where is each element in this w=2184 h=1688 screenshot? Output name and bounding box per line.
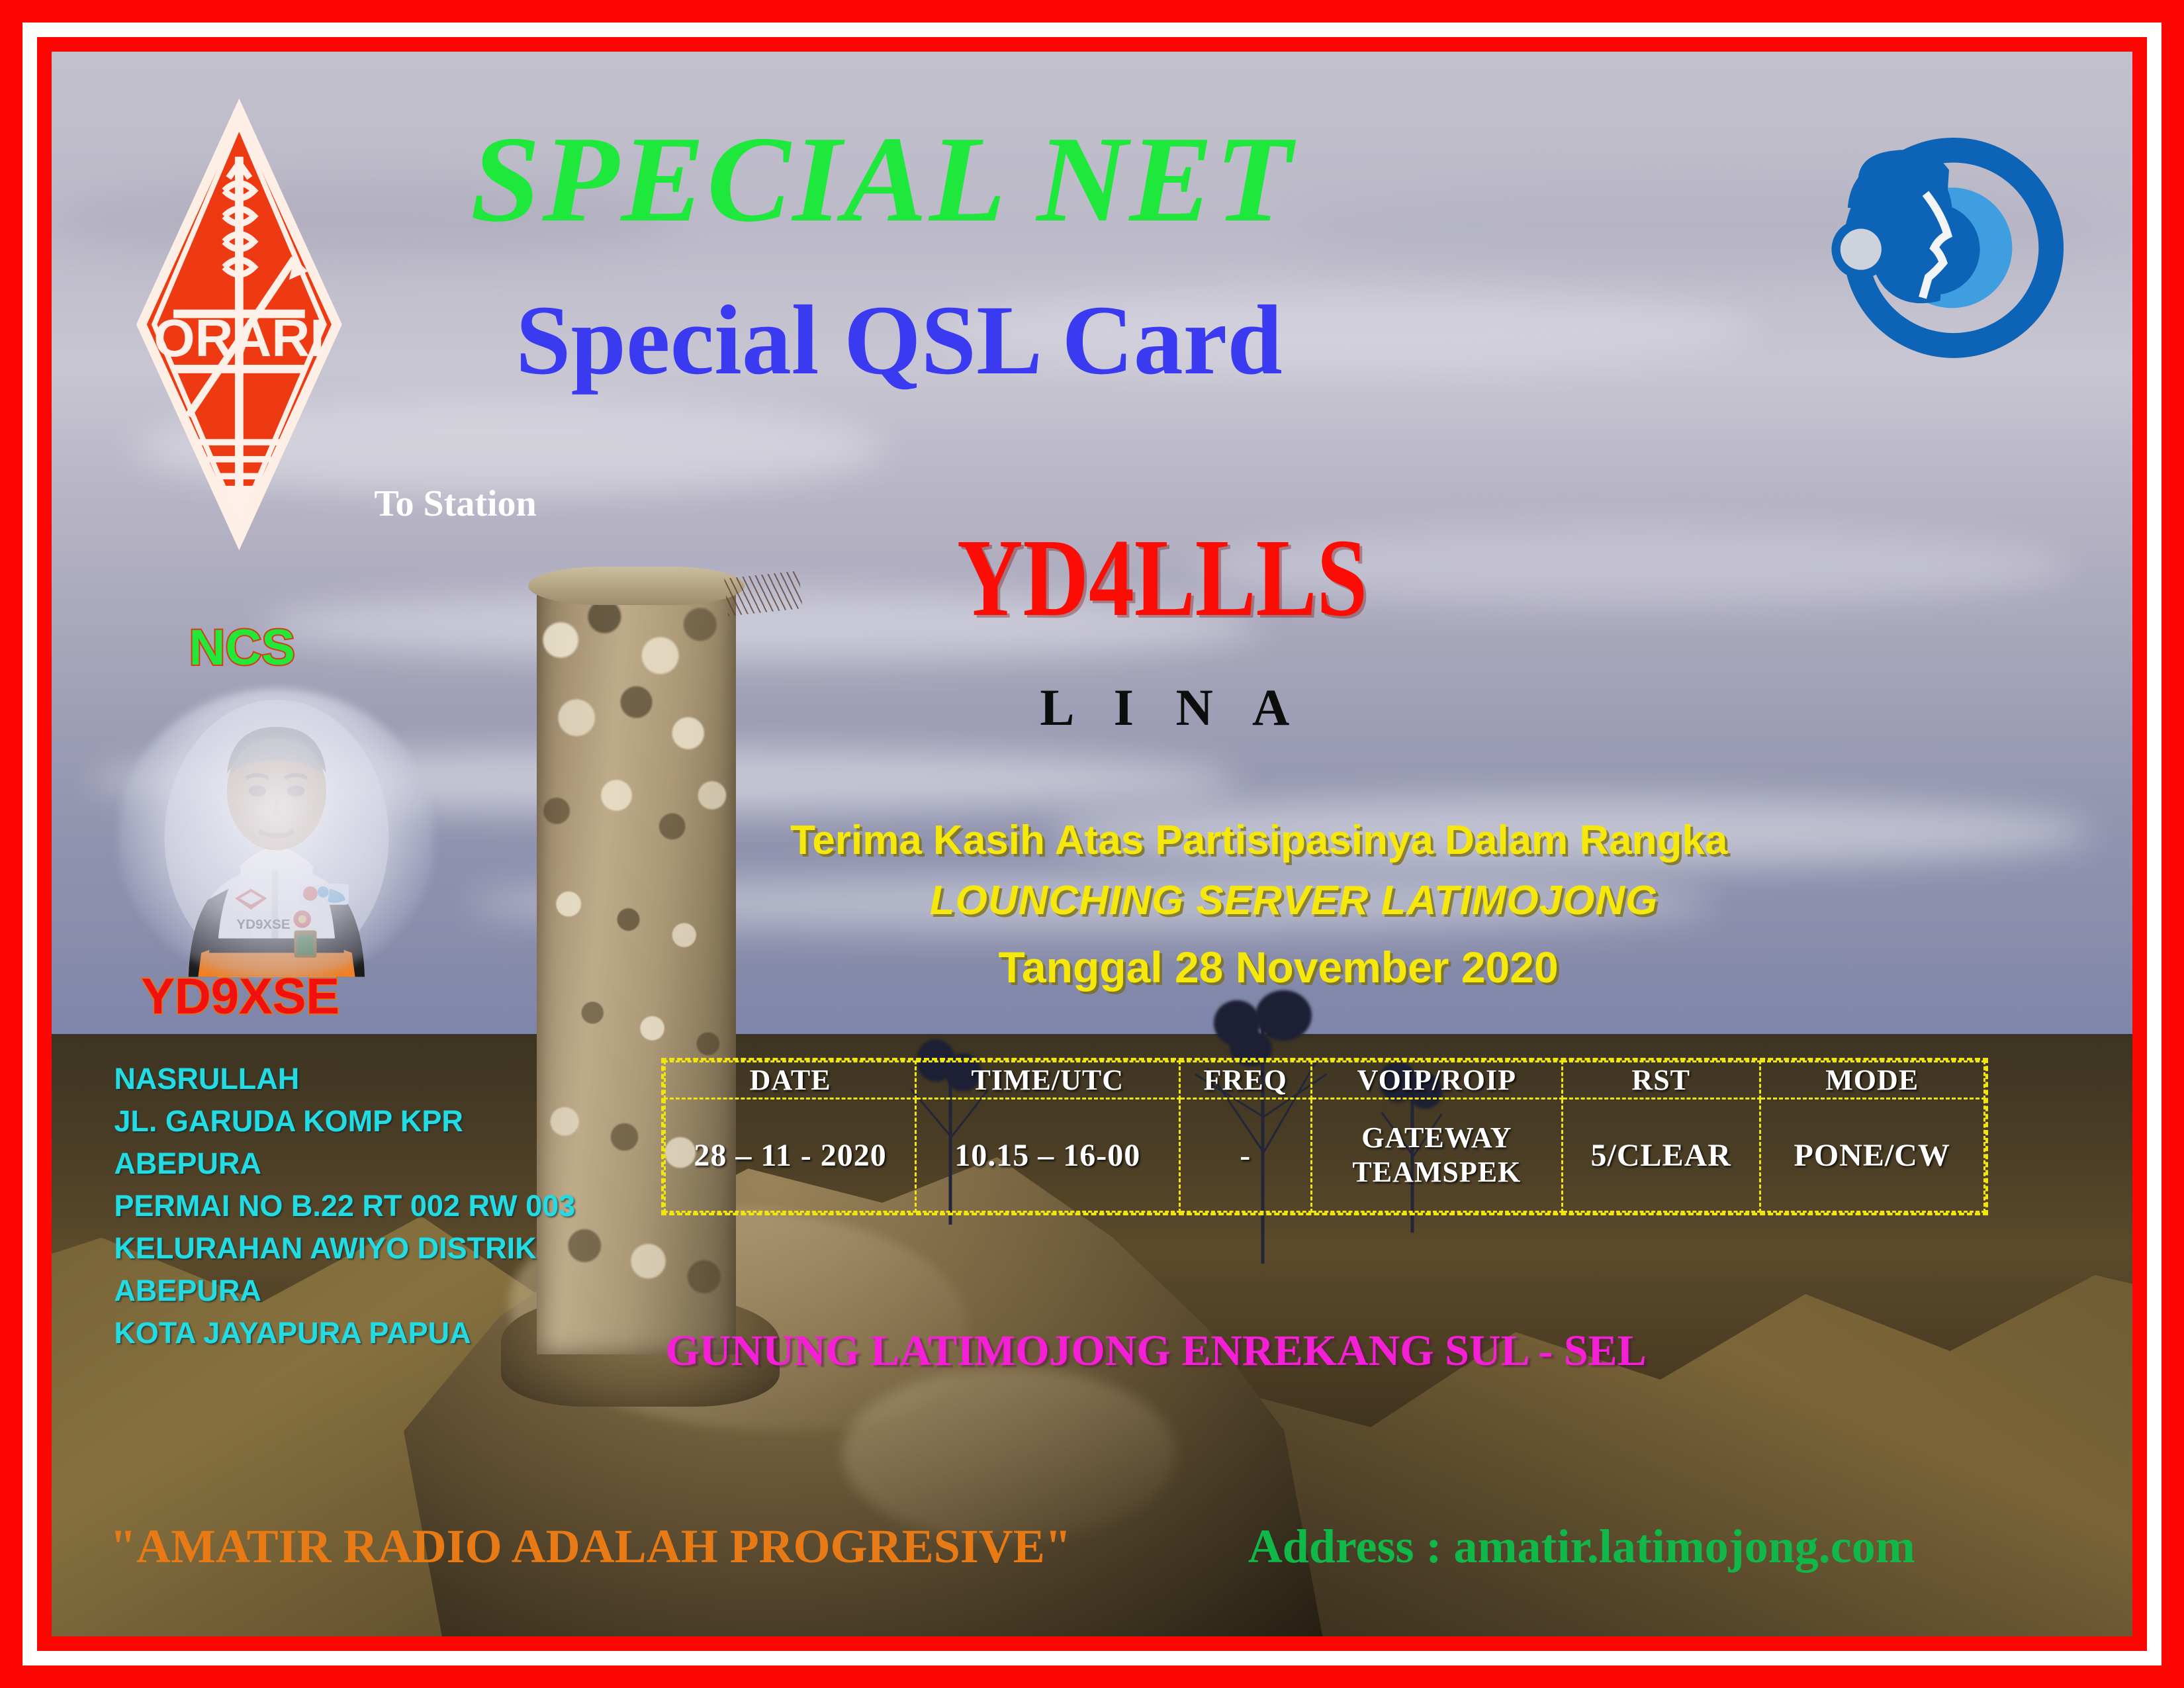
- grass-wisp-on-monument: [724, 571, 803, 616]
- location-line: GUNUNG LATIMOJONG ENREKANG SUL - SEL: [665, 1326, 1646, 1376]
- cell-mode: PONE/CW: [1760, 1099, 1984, 1212]
- cell-time: 10.15 – 16-00: [915, 1099, 1179, 1212]
- sender-address-block: NASRULLAH JL. GARUDA KOMP KPR ABEPURA PE…: [114, 1058, 575, 1354]
- cell-voip: GATEWAY TEAMSPEK: [1311, 1099, 1562, 1212]
- table-header-row: DATE TIME/UTC FREQ VOIP/ROIP RST MODE: [665, 1062, 1984, 1099]
- cell-freq: -: [1179, 1099, 1311, 1212]
- to-station-label: To Station: [374, 483, 536, 525]
- qsl-card-white-gap: ORARI: [23, 23, 2161, 1665]
- page-title: SPECIAL NET: [470, 109, 1293, 250]
- address-line: NASRULLAH: [114, 1058, 575, 1100]
- orari-logo-text: ORARI: [154, 308, 324, 367]
- address-line: KELURAHAN AWIYO DISTRIK: [114, 1227, 575, 1270]
- column-header-mode: MODE: [1760, 1062, 1984, 1099]
- orari-logo: ORARI: [133, 87, 345, 562]
- column-header-freq: FREQ: [1179, 1062, 1311, 1099]
- address-line: JL. GARUDA KOMP KPR: [114, 1100, 575, 1143]
- monument-top-cap: [528, 567, 745, 604]
- address-line: KOTA JAYAPURA PAPUA: [114, 1312, 575, 1354]
- address-line: ABEPURA: [114, 1143, 575, 1185]
- column-header-date: DATE: [665, 1062, 916, 1099]
- cell-rst: 5/CLEAR: [1562, 1099, 1760, 1212]
- motto-text: "AMATIR RADIO ADALAH PROGRESIVE": [110, 1519, 1071, 1574]
- ncs-role-label: NCS: [189, 619, 295, 677]
- cell-voip-line1: GATEWAY: [1313, 1121, 1561, 1155]
- ncs-callsign: YD9XSE: [141, 968, 340, 1025]
- qsl-card-frame: ORARI: [0, 0, 2184, 1688]
- operator-photo: YD9XSE: [118, 688, 435, 977]
- cell-date: 28 – 11 - 2020: [665, 1099, 916, 1212]
- qsl-card-inner-red-border: ORARI: [37, 37, 2147, 1651]
- address-line: ABEPURA: [114, 1270, 575, 1312]
- column-header-rst: RST: [1562, 1062, 1760, 1099]
- page-subtitle: Special QSL Card: [516, 283, 1283, 397]
- event-line: LOUNCHING SERVER LATIMOJONG: [930, 877, 1659, 924]
- thanks-line: Terima Kasih Atas Partisipasinya Dalam R…: [790, 817, 1727, 864]
- rock-highlight: [842, 1367, 1175, 1541]
- tree-canopy: [1255, 990, 1312, 1041]
- qsl-card-photo-background: ORARI: [52, 52, 2132, 1636]
- column-header-voip: VOIP/ROIP: [1311, 1062, 1562, 1099]
- table-row: 28 – 11 - 2020 10.15 – 16-00 - GATEWAY T…: [665, 1099, 1984, 1212]
- station-operator-name: L I N A: [1040, 678, 1304, 737]
- photo-vignette: [118, 688, 435, 977]
- station-callsign: YD4LLLS: [957, 514, 1367, 642]
- qso-details-table: DATE TIME/UTC FREQ VOIP/ROIP RST MODE 28…: [661, 1058, 1987, 1215]
- cell-voip-line2: TEAMSPEK: [1313, 1155, 1561, 1190]
- address-line: PERMAI NO B.22 RT 002 RW 003: [114, 1185, 575, 1227]
- event-date-line: Tanggal 28 November 2020: [999, 942, 1559, 992]
- web-address-label: Address : amatir.latimojong.com: [1248, 1519, 1915, 1574]
- column-header-time: TIME/UTC: [915, 1062, 1179, 1099]
- headset-speaker-logo: [1829, 89, 2078, 406]
